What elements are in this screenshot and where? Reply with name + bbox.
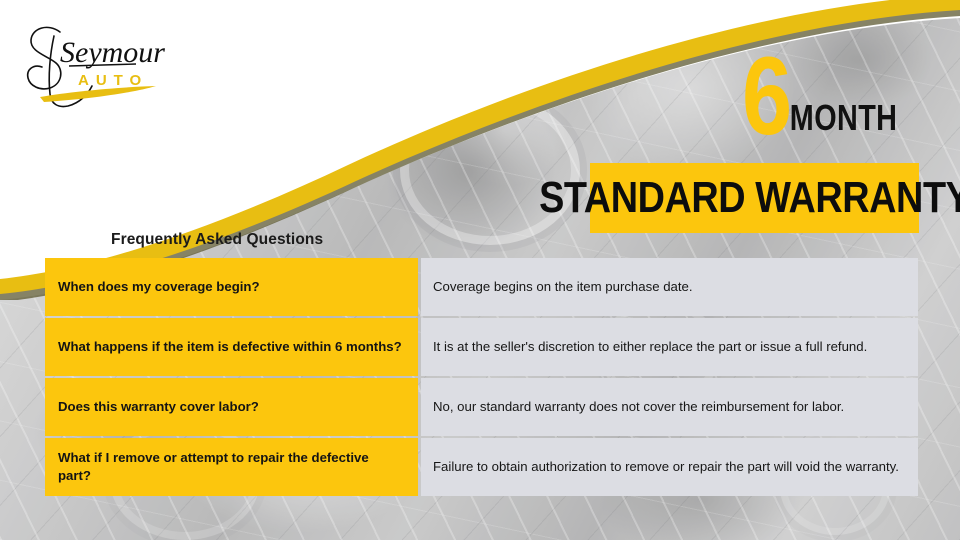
table-row: What happens if the item is defective wi… xyxy=(45,318,918,376)
faq-answer-cell: No, our standard warranty does not cover… xyxy=(421,378,918,436)
faq-question-cell: What happens if the item is defective wi… xyxy=(45,318,418,376)
table-row: When does my coverage begin? Coverage be… xyxy=(45,258,918,316)
faq-answer-text: Coverage begins on the item purchase dat… xyxy=(433,278,906,296)
faq-answer-text: It is at the seller's discretion to eith… xyxy=(433,338,906,356)
faq-answer-cell: Failure to obtain authorization to remov… xyxy=(421,438,918,496)
faq-question-text: What if I remove or attempt to repair th… xyxy=(58,449,405,485)
faq-question-cell: When does my coverage begin? xyxy=(45,258,418,316)
duration-number: 6 xyxy=(742,52,791,142)
table-row: What if I remove or attempt to repair th… xyxy=(45,438,918,496)
faq-answer-text: No, our standard warranty does not cover… xyxy=(433,398,906,416)
seymour-auto-logo: Seymour AUTO xyxy=(14,14,214,114)
table-row: Does this warranty cover labor? No, our … xyxy=(45,378,918,436)
faq-heading: Frequently Asked Questions xyxy=(111,231,323,249)
faq-question-cell: What if I remove or attempt to repair th… xyxy=(45,438,418,496)
faq-question-text: What happens if the item is defective wi… xyxy=(58,338,402,356)
faq-question-cell: Does this warranty cover labor? xyxy=(45,378,418,436)
faq-question-text: Does this warranty cover labor? xyxy=(58,398,259,416)
warranty-faq-slide: Seymour AUTO 6 MONTH STANDARD WARRANTY F… xyxy=(0,0,960,540)
warranty-title-text: STANDARD WARRANTY xyxy=(539,173,960,223)
warranty-title-band: STANDARD WARRANTY xyxy=(590,163,919,233)
faq-answer-cell: It is at the seller's discretion to eith… xyxy=(421,318,918,376)
brand-subtitle-text: AUTO xyxy=(78,72,148,89)
faq-question-text: When does my coverage begin? xyxy=(58,278,260,296)
faq-table: When does my coverage begin? Coverage be… xyxy=(45,258,918,496)
faq-answer-text: Failure to obtain authorization to remov… xyxy=(433,458,906,476)
faq-answer-cell: Coverage begins on the item purchase dat… xyxy=(421,258,918,316)
duration-unit: MONTH xyxy=(790,100,898,142)
warranty-duration: 6 MONTH xyxy=(742,52,952,142)
